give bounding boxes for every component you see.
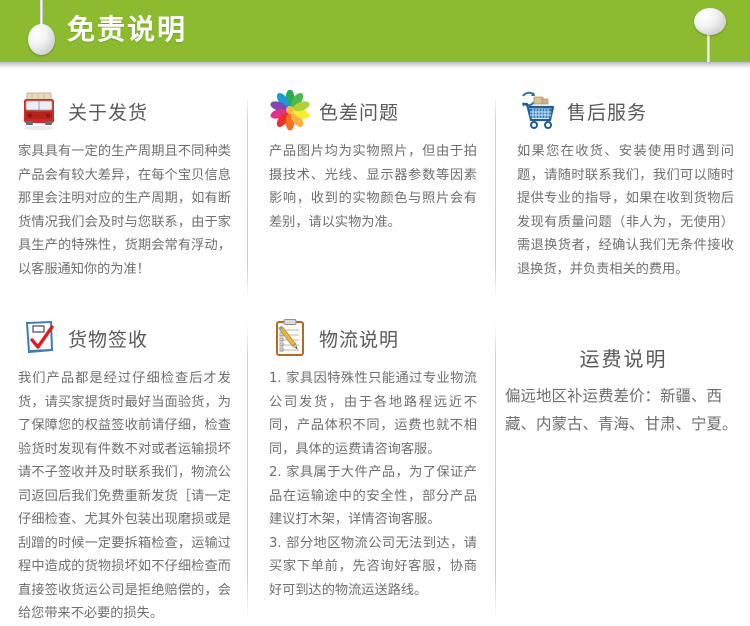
- card-title: 运费说明: [505, 343, 742, 372]
- card-body-text: 产品图片均为实物照片，但由于拍摄技术、光线、显示器参数等因素影响，收到的实物颜色…: [269, 140, 477, 234]
- clipboard-check-icon: [18, 317, 60, 359]
- card-header: 色差问题: [269, 88, 477, 134]
- card-body-text: 家具具有一定的生产周期且不同种类产品会有较大差异，在每个宝贝信息那里会注明对应的…: [18, 140, 231, 281]
- card-color-difference: 色差问题 产品图片均为实物照片，但由于拍摄技术、光线、显示器参数等因素影响，收到…: [247, 88, 495, 293]
- card-title: 货物签收: [68, 325, 148, 352]
- card-title: 色差问题: [319, 98, 399, 125]
- logistics-item-3: 3. 部分地区物流公司无法到达，请买家下单前，先咨询好客服，协商好可到达的物流运…: [269, 532, 477, 603]
- card-title: 关于发货: [68, 98, 148, 125]
- card-about-shipping: 关于发货 家具具有一定的生产周期且不同种类产品会有较大差异，在每个宝贝信息那里会…: [0, 88, 247, 293]
- card-header: 物流说明: [269, 315, 477, 361]
- content-row-1: 关于发货 家具具有一定的生产周期且不同种类产品会有较大差异，在每个宝贝信息那里会…: [0, 88, 750, 293]
- card-body-list: 1. 家具因特殊性只能通过专业物流公司发货，由于各地路程远近不同，产品体积不同，…: [269, 367, 477, 602]
- card-after-sales-service: 售后服务 如果您在收货、安装使用时遇到问题，请随时联系我们，我们可以随时提供专业…: [495, 88, 750, 293]
- card-freight-notes: 运费说明 偏远地区补运费差价：新疆、西藏、内蒙古、青海、甘肃、宁夏。: [495, 315, 750, 626]
- disclaimer-page: 免责说明: [0, 0, 750, 608]
- card-body-text: 如果您在收货、安装使用时遇到问题，请随时联系我们，我们可以随时提供专业的指导，如…: [517, 140, 734, 281]
- page-title: 免责说明: [67, 9, 187, 51]
- pin-left-head: [28, 24, 55, 55]
- card-logistics-notes: 物流说明 1. 家具因特殊性只能通过专业物流公司发货，由于各地路程远近不同，产品…: [247, 315, 495, 626]
- content-row-2: 货物签收 我们产品都是经过仔细检查后才发货，请买家提货时最好当面验货，为了保障您…: [0, 315, 750, 626]
- card-body-text: 我们产品都是经过仔细检查后才发货，请买家提货时最好当面验货，为了保障您的权益签收…: [18, 367, 231, 626]
- content-area: 关于发货 家具具有一定的生产周期且不同种类产品会有较大差异，在每个宝贝信息那里会…: [0, 62, 750, 626]
- card-header: 关于发货: [18, 88, 231, 134]
- card-body-text: 偏远地区补运费差价：新疆、西藏、内蒙古、青海、甘肃、宁夏。: [505, 382, 742, 438]
- logistics-item-2: 2. 家具属于大件产品，为了保证产品在运输途中的安全性，部分产品建议打木架，详情…: [269, 461, 477, 532]
- card-title: 售后服务: [567, 98, 647, 125]
- logistics-item-1: 1. 家具因特殊性只能通过专业物流公司发货，由于各地路程远近不同，产品体积不同，…: [269, 367, 477, 461]
- shopping-cart-icon: [517, 90, 559, 132]
- page-header-banner: 免责说明: [0, 0, 750, 62]
- card-header: 货物签收: [18, 315, 231, 361]
- card-header: 售后服务: [517, 88, 734, 134]
- pin-right-head: [694, 8, 726, 35]
- card-goods-receipt: 货物签收 我们产品都是经过仔细检查后才发货，请买家提货时最好当面验货，为了保障您…: [0, 315, 247, 626]
- color-wheel-icon: [269, 90, 311, 132]
- clipboard-pencil-icon: [269, 317, 311, 359]
- delivery-truck-icon: [18, 90, 60, 132]
- card-title: 物流说明: [319, 325, 399, 352]
